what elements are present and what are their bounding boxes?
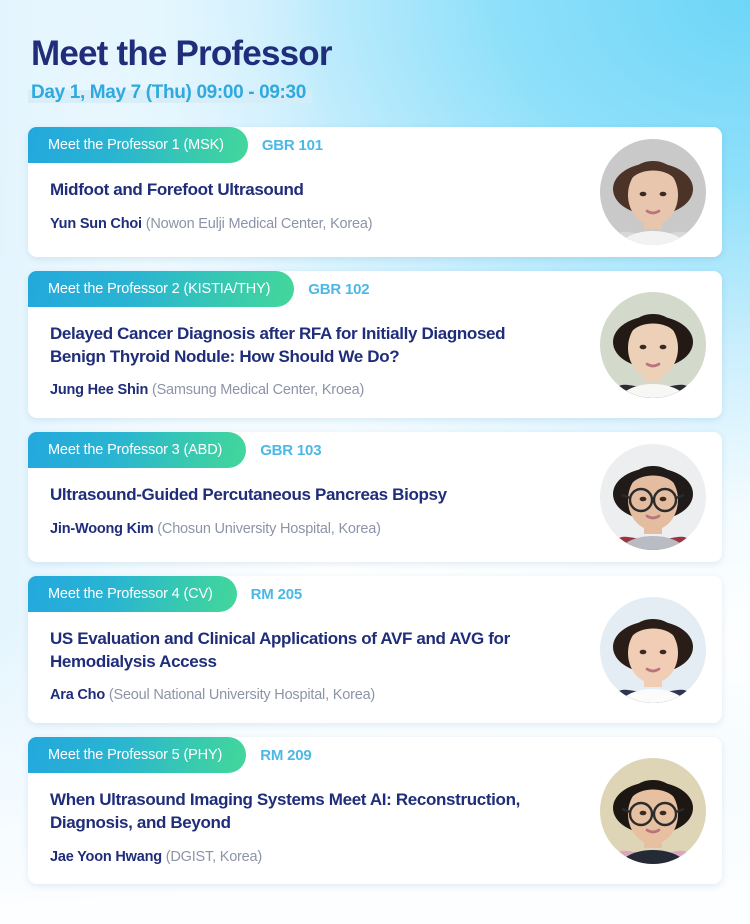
session-card-list: Meet the Professor 1 (MSK) GBR 101 Midfo… <box>28 127 722 884</box>
session-title: Ultrasound-Guided Percutaneous Pancreas … <box>50 484 542 507</box>
session-datetime-text: Day 1, May 7 (Thu) 09:00 - 09:30 <box>31 82 306 103</box>
avatar-jin-woong-kim <box>600 444 706 550</box>
avatar-jung-hee-shin <box>600 292 706 398</box>
session-badge: Meet the Professor 5 (PHY) <box>28 737 246 773</box>
page-header: Meet the Professor Day 1, May 7 (Thu) 09… <box>28 0 722 104</box>
speaker-affiliation: (Seoul National University Hospital, Kor… <box>109 687 375 703</box>
session-room: GBR 101 <box>262 137 323 154</box>
speaker-name: Yun Sun Choi <box>50 216 142 232</box>
speaker-affiliation: (DGIST, Korea) <box>166 849 262 865</box>
session-card[interactable]: Meet the Professor 3 (ABD) GBR 103 Ultra… <box>28 432 722 562</box>
avatar-yun-sun-choi <box>600 139 706 245</box>
session-speaker: Jae Yoon Hwang (DGIST, Korea) <box>50 848 542 867</box>
session-room: GBR 103 <box>260 442 321 459</box>
session-room: GBR 102 <box>308 281 369 298</box>
session-speaker: Jin-Woong Kim (Chosun University Hospita… <box>50 520 542 539</box>
speaker-affiliation: (Samsung Medical Center, Kroea) <box>152 382 364 398</box>
session-badge-row: Meet the Professor 2 (KISTIA/THY) GBR 10… <box>28 271 722 307</box>
speaker-name: Jung Hee Shin <box>50 382 148 398</box>
session-title: When Ultrasound Imaging Systems Meet AI:… <box>50 789 542 834</box>
session-title: Delayed Cancer Diagnosis after RFA for I… <box>50 323 542 368</box>
speaker-name: Jae Yoon Hwang <box>50 849 162 865</box>
session-speaker: Jung Hee Shin (Samsung Medical Center, K… <box>50 381 542 400</box>
page-title: Meet the Professor <box>28 34 722 73</box>
session-card[interactable]: Meet the Professor 4 (CV) RM 205 US Eval… <box>28 576 722 723</box>
session-badge-row: Meet the Professor 4 (CV) RM 205 <box>28 576 722 612</box>
session-card[interactable]: Meet the Professor 5 (PHY) RM 209 When U… <box>28 737 722 884</box>
session-card[interactable]: Meet the Professor 2 (KISTIA/THY) GBR 10… <box>28 271 722 418</box>
avatar-jae-yoon-hwang <box>600 758 706 864</box>
session-room: RM 205 <box>251 586 302 603</box>
session-datetime: Day 1, May 7 (Thu) 09:00 - 09:30 <box>28 82 306 104</box>
session-title: US Evaluation and Clinical Applications … <box>50 628 542 673</box>
page-root: Meet the Professor Day 1, May 7 (Thu) 09… <box>0 0 750 924</box>
session-speaker: Ara Cho (Seoul National University Hospi… <box>50 686 542 705</box>
speaker-name: Jin-Woong Kim <box>50 521 153 537</box>
speaker-affiliation: (Nowon Eulji Medical Center, Korea) <box>146 216 373 232</box>
session-badge: Meet the Professor 4 (CV) <box>28 576 237 612</box>
avatar-ara-cho <box>600 597 706 703</box>
session-title: Midfoot and Forefoot Ultrasound <box>50 179 542 202</box>
session-badge: Meet the Professor 3 (ABD) <box>28 432 246 468</box>
speaker-name: Ara Cho <box>50 687 105 703</box>
speaker-affiliation: (Chosun University Hospital, Korea) <box>157 521 380 537</box>
session-card[interactable]: Meet the Professor 1 (MSK) GBR 101 Midfo… <box>28 127 722 257</box>
session-badge: Meet the Professor 1 (MSK) <box>28 127 248 163</box>
session-badge: Meet the Professor 2 (KISTIA/THY) <box>28 271 294 307</box>
session-room: RM 209 <box>260 747 311 764</box>
session-speaker: Yun Sun Choi (Nowon Eulji Medical Center… <box>50 215 542 234</box>
session-badge-row: Meet the Professor 5 (PHY) RM 209 <box>28 737 722 773</box>
